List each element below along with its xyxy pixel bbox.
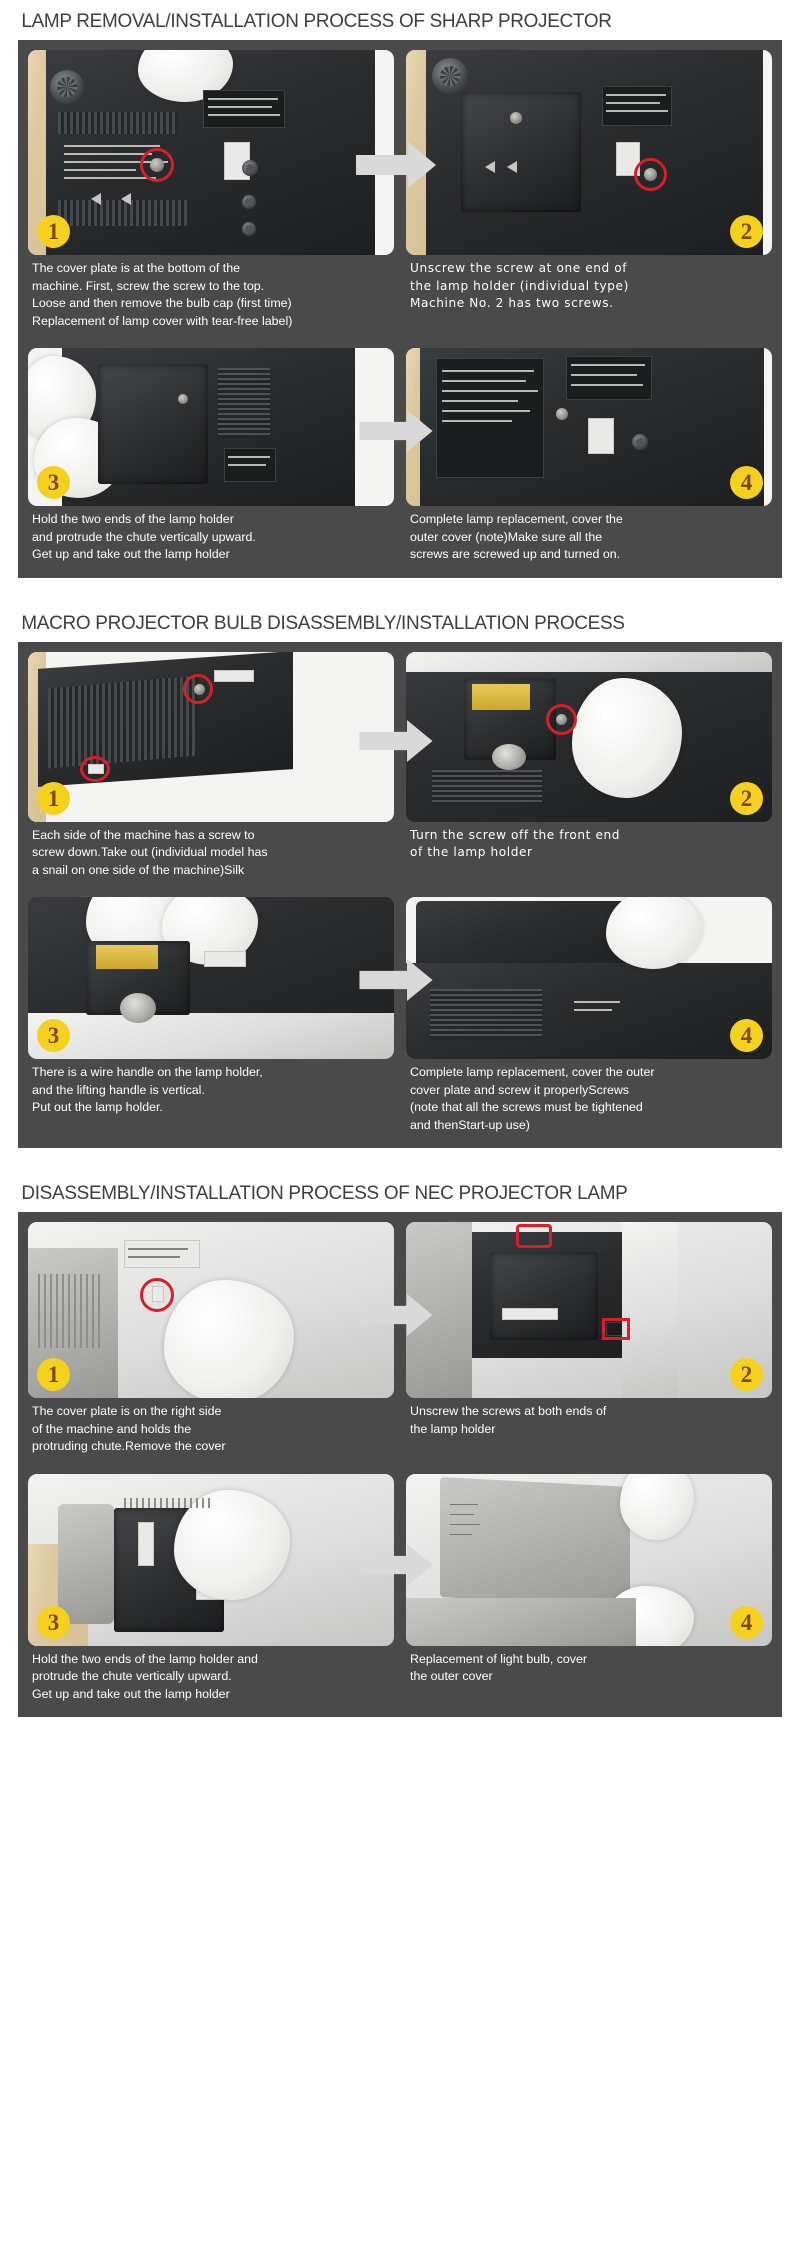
step-caption: Hold the two ends of the lamp holder and… bbox=[28, 506, 394, 572]
step-caption: The cover plate is on the right side of … bbox=[28, 1398, 394, 1464]
panel-board-macro: 1 Each side of the machine has a screw t… bbox=[18, 642, 782, 1149]
section-sharp: LAMP REMOVAL/INSTALLATION PROCESS OF SHA… bbox=[0, 0, 800, 578]
highlight-circle bbox=[140, 1278, 174, 1312]
step-badge: 4 bbox=[730, 466, 763, 499]
step-photo-4[interactable]: 4 bbox=[406, 348, 772, 506]
step-caption: Complete lamp replacement, cover the out… bbox=[406, 1059, 772, 1142]
step-photo-2[interactable]: 2 bbox=[406, 50, 772, 255]
photo-scene bbox=[28, 897, 394, 1059]
highlight-rect bbox=[516, 1224, 552, 1248]
section-title-nec: DISASSEMBLY/INSTALLATION PROCESS OF NEC … bbox=[0, 1182, 776, 1212]
step-caption: Unscrew the screws at both ends of the l… bbox=[406, 1398, 772, 1446]
step-cell: 3 Hold the two ends of the lamp holder a… bbox=[28, 1474, 394, 1712]
step-badge: 1 bbox=[37, 1358, 70, 1391]
step-caption: Complete lamp replacement, cover the out… bbox=[406, 506, 772, 572]
photo-scene bbox=[406, 1474, 772, 1646]
step-cell: 3 Hold the two ends of the lamp holder a… bbox=[28, 348, 394, 572]
section-title-macro: MACRO PROJECTOR BULB DISASSEMBLY/INSTALL… bbox=[0, 612, 776, 642]
step-photo-3[interactable]: 3 bbox=[28, 897, 394, 1059]
step-cell: 3 There is a wire handle on the lamp hol… bbox=[28, 897, 394, 1142]
section-title-sharp: LAMP REMOVAL/INSTALLATION PROCESS OF SHA… bbox=[0, 10, 776, 40]
step-caption: Turn the screw off the front end of the … bbox=[406, 822, 772, 870]
photo-scene bbox=[28, 1222, 394, 1398]
step-photo-2[interactable]: 2 bbox=[406, 652, 772, 822]
panel-row: 1 The cover plate is on the right side o… bbox=[28, 1222, 772, 1464]
step-badge: 2 bbox=[730, 215, 763, 248]
panel-row: 3 Hold the two ends of the lamp holder a… bbox=[28, 1474, 772, 1712]
step-cell: 1 The cover plate is on the right side o… bbox=[28, 1222, 394, 1464]
step-badge: 1 bbox=[37, 215, 70, 248]
step-caption: Unscrew the screw at one end of the lamp… bbox=[406, 255, 772, 321]
step-cell: 2 Unscrew the screws at both ends of the… bbox=[406, 1222, 772, 1464]
step-badge: 3 bbox=[37, 1019, 70, 1052]
highlight-circle bbox=[183, 674, 213, 704]
step-badge: 2 bbox=[730, 782, 763, 815]
step-cell: 1 Each side of the machine has a screw t… bbox=[28, 652, 394, 888]
step-photo-1[interactable]: 1 bbox=[28, 1222, 394, 1398]
photo-scene bbox=[28, 50, 394, 255]
photo-scene bbox=[406, 1222, 772, 1398]
photo-scene bbox=[406, 897, 772, 1059]
step-caption: There is a wire handle on the lamp holde… bbox=[28, 1059, 394, 1125]
step-badge: 3 bbox=[37, 466, 70, 499]
step-badge: 4 bbox=[730, 1019, 763, 1052]
panel-row: 3 Hold the two ends of the lamp holder a… bbox=[28, 348, 772, 572]
panel-row: 3 There is a wire handle on the lamp hol… bbox=[28, 897, 772, 1142]
step-caption: Each side of the machine has a screw to … bbox=[28, 822, 394, 888]
step-photo-2[interactable]: 2 bbox=[406, 1222, 772, 1398]
panel-row: 1 The cover plate is at the bottom of th… bbox=[28, 50, 772, 338]
highlight-circle bbox=[140, 148, 174, 182]
step-badge: 1 bbox=[37, 782, 70, 815]
highlight-rect bbox=[602, 1318, 630, 1340]
step-photo-4[interactable]: 4 bbox=[406, 1474, 772, 1646]
step-badge: 2 bbox=[730, 1358, 763, 1391]
step-cell: 4 Complete lamp replacement, cover the o… bbox=[406, 897, 772, 1142]
step-cell: 2 Turn the screw off the front end of th… bbox=[406, 652, 772, 888]
step-cell: 2 Unscrew the screw at one end of the la… bbox=[406, 50, 772, 338]
step-cell: 4 Replacement of light bulb, cover the o… bbox=[406, 1474, 772, 1712]
photo-scene bbox=[28, 652, 394, 822]
step-caption: The cover plate is at the bottom of the … bbox=[28, 255, 394, 338]
step-photo-4[interactable]: 4 bbox=[406, 897, 772, 1059]
infographic-page: LAMP REMOVAL/INSTALLATION PROCESS OF SHA… bbox=[0, 0, 800, 1717]
step-badge: 3 bbox=[37, 1606, 70, 1639]
photo-scene bbox=[406, 652, 772, 822]
step-photo-1[interactable]: 1 bbox=[28, 652, 394, 822]
step-caption: Hold the two ends of the lamp holder and… bbox=[28, 1646, 394, 1712]
step-photo-3[interactable]: 3 bbox=[28, 348, 394, 506]
photo-scene bbox=[28, 1474, 394, 1646]
step-caption: Replacement of light bulb, cover the out… bbox=[406, 1646, 772, 1694]
highlight-circle bbox=[634, 158, 667, 191]
panel-board-nec: 1 The cover plate is on the right side o… bbox=[18, 1212, 782, 1717]
photo-scene bbox=[406, 348, 772, 506]
highlight-circle bbox=[546, 704, 577, 735]
highlight-circle bbox=[80, 756, 110, 782]
step-cell: 1 The cover plate is at the bottom of th… bbox=[28, 50, 394, 338]
step-photo-1[interactable]: 1 bbox=[28, 50, 394, 255]
photo-scene bbox=[406, 50, 772, 255]
step-badge: 4 bbox=[730, 1606, 763, 1639]
section-macro: MACRO PROJECTOR BULB DISASSEMBLY/INSTALL… bbox=[0, 612, 800, 1149]
panel-board-sharp: 1 The cover plate is at the bottom of th… bbox=[18, 40, 782, 578]
section-nec: DISASSEMBLY/INSTALLATION PROCESS OF NEC … bbox=[0, 1182, 800, 1717]
panel-row: 1 Each side of the machine has a screw t… bbox=[28, 652, 772, 888]
step-photo-3[interactable]: 3 bbox=[28, 1474, 394, 1646]
step-cell: 4 Complete lamp replacement, cover the o… bbox=[406, 348, 772, 572]
photo-scene bbox=[28, 348, 394, 506]
